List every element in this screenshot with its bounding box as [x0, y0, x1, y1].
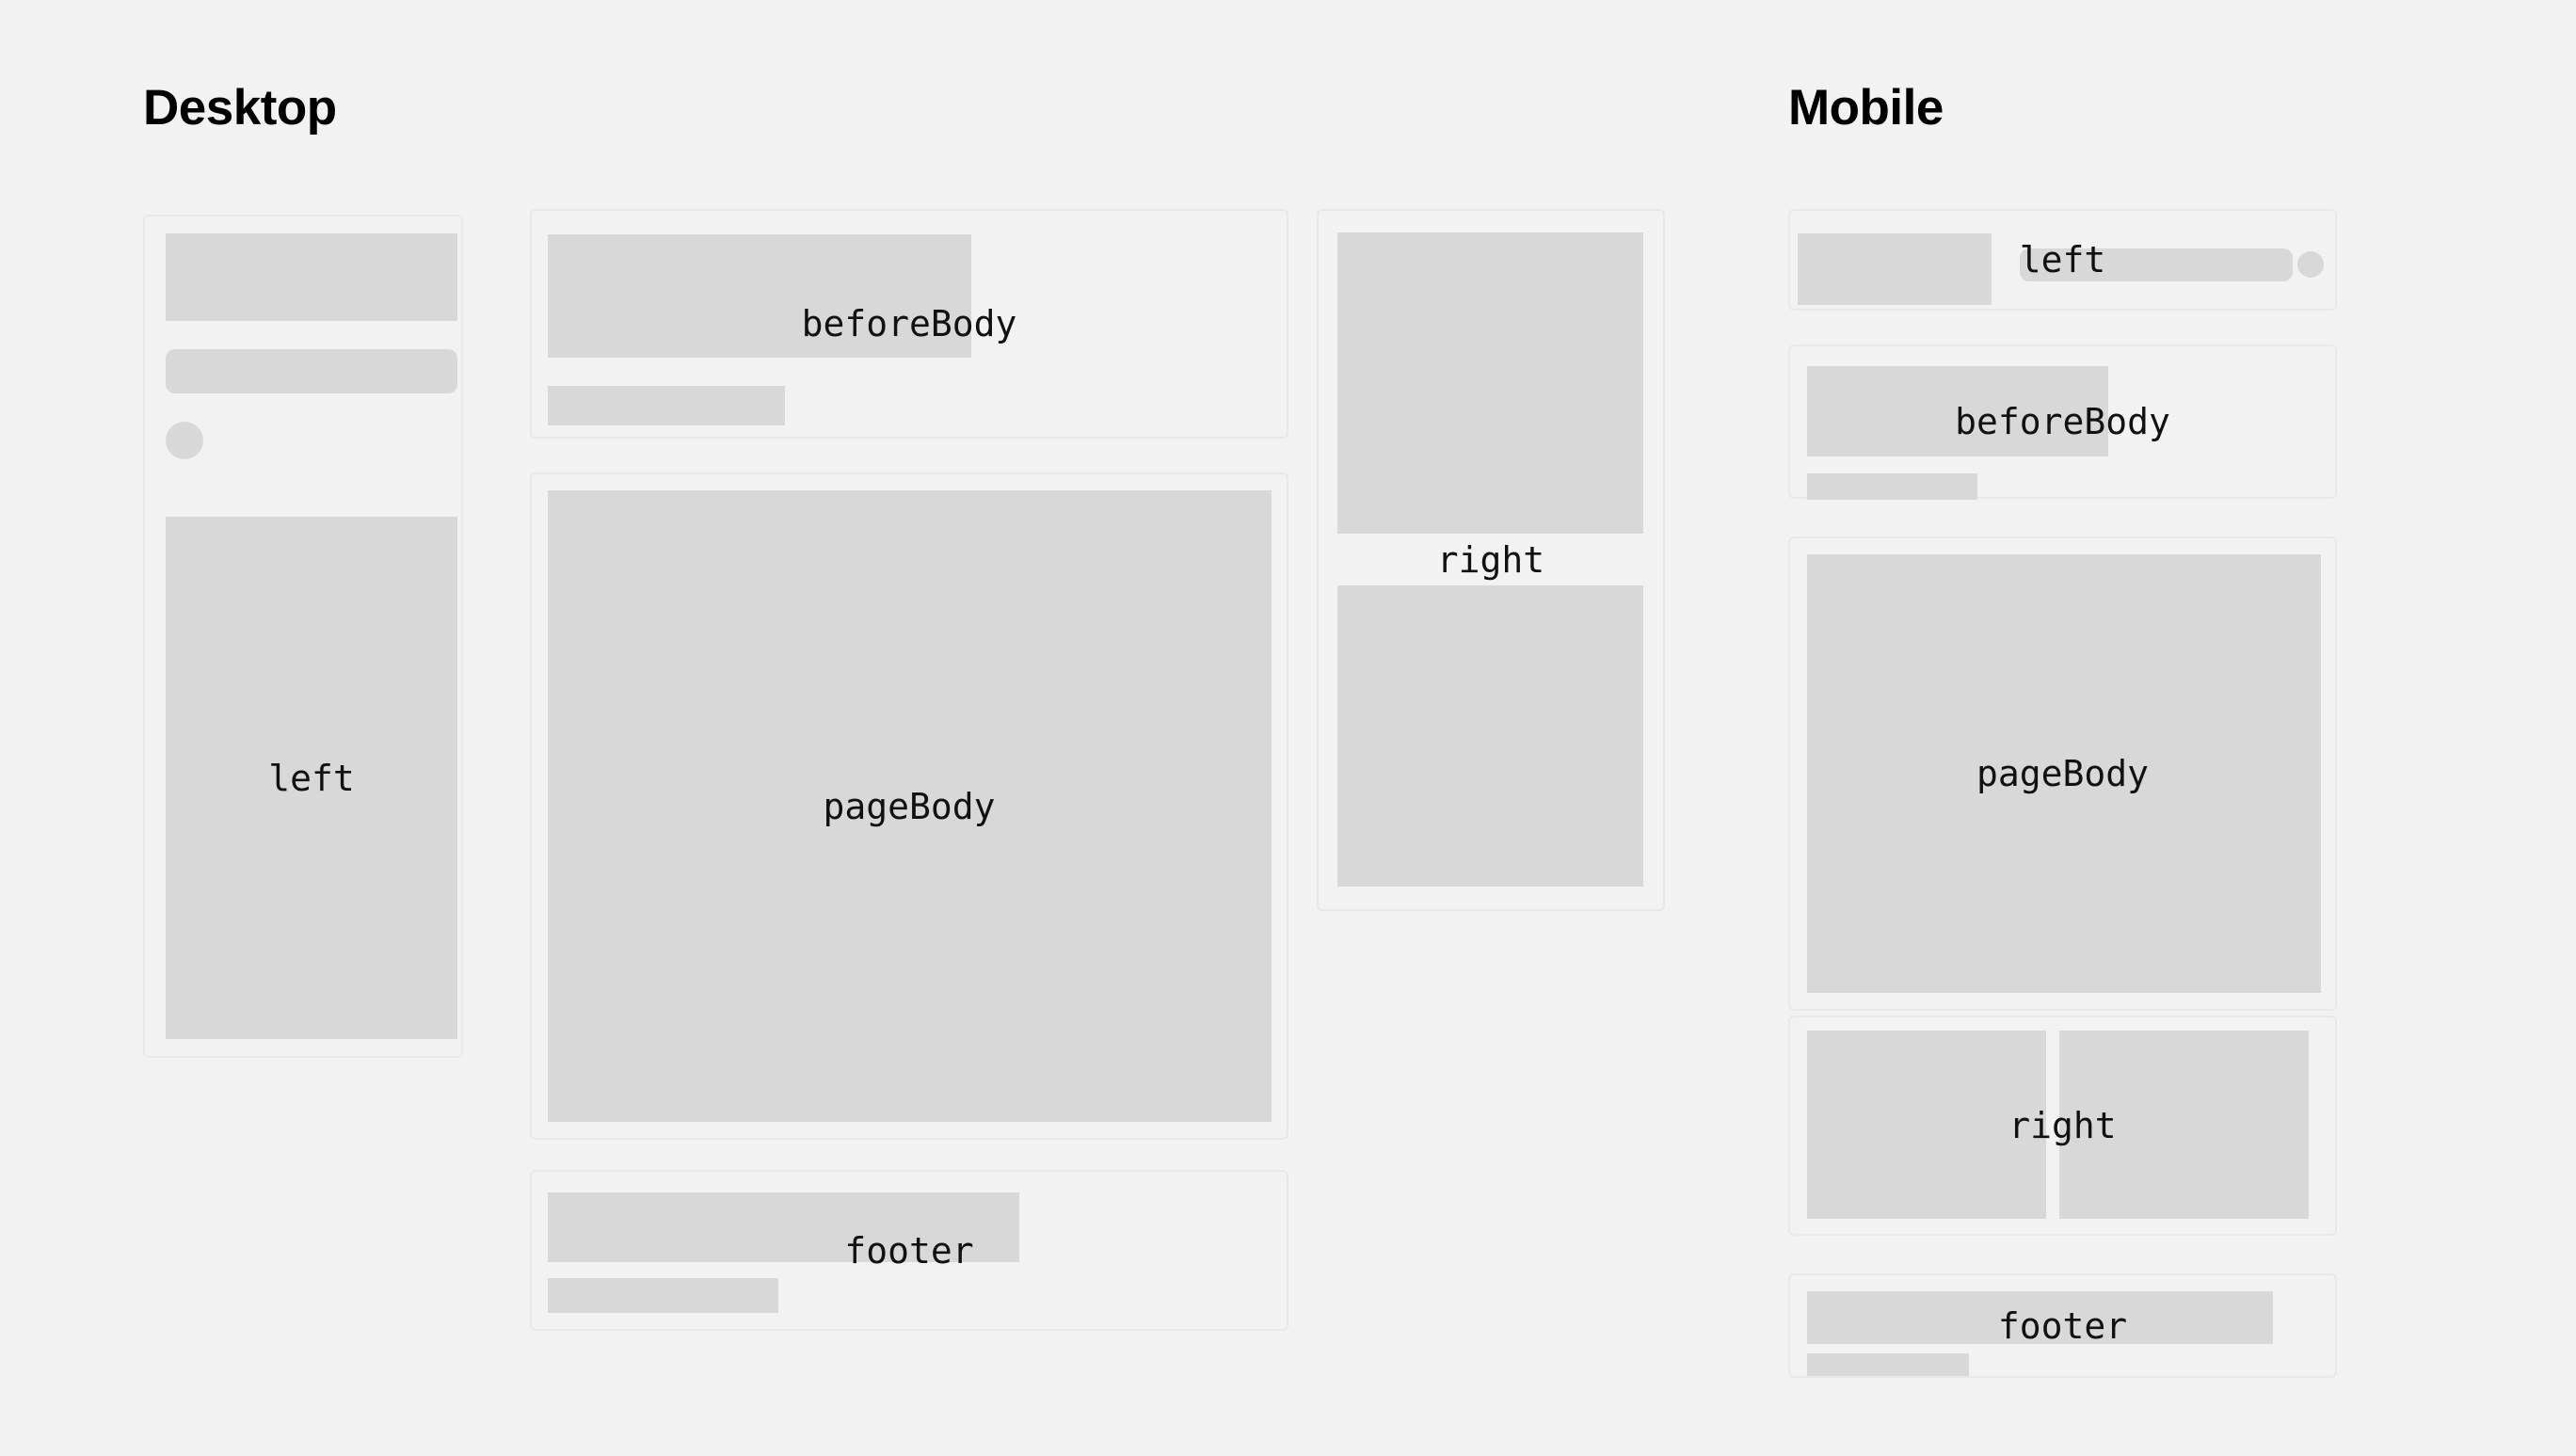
desktop-footer-primary-block	[548, 1192, 1019, 1262]
desktop-beforebody-caption-block	[548, 386, 785, 425]
mobile-footer-primary-block	[1807, 1291, 2273, 1344]
desktop-beforebody-primary-block	[548, 234, 971, 358]
mobile-beforebody-primary-block	[1807, 366, 2108, 456]
mobile-right-right-block	[2059, 1031, 2309, 1219]
desktop-pagebody-content-block	[548, 490, 1272, 1122]
desktop-right-lower-block	[1337, 585, 1643, 887]
wireframe-canvas: Desktop left beforeBody pageBody right f…	[0, 0, 2576, 1456]
mobile-footer-caption-block	[1807, 1353, 1969, 1376]
mobile-right-left-block	[1807, 1031, 2046, 1219]
desktop-section-heading: Desktop	[143, 83, 337, 133]
mobile-left-avatar-circle	[2297, 251, 2324, 278]
mobile-section-heading: Mobile	[1788, 83, 1944, 133]
mobile-left-pill-block	[2020, 248, 2293, 281]
mobile-pagebody-content-block	[1807, 554, 2321, 993]
desktop-left-pill-block	[166, 349, 457, 393]
desktop-right-upper-block	[1337, 232, 1643, 534]
mobile-beforebody-caption-block	[1807, 473, 1977, 500]
mobile-left-header-block	[1798, 233, 1992, 305]
desktop-left-header-block	[166, 233, 457, 321]
desktop-left-content-block	[166, 517, 457, 1039]
desktop-footer-caption-block	[548, 1278, 778, 1313]
desktop-left-avatar-circle	[166, 422, 203, 459]
